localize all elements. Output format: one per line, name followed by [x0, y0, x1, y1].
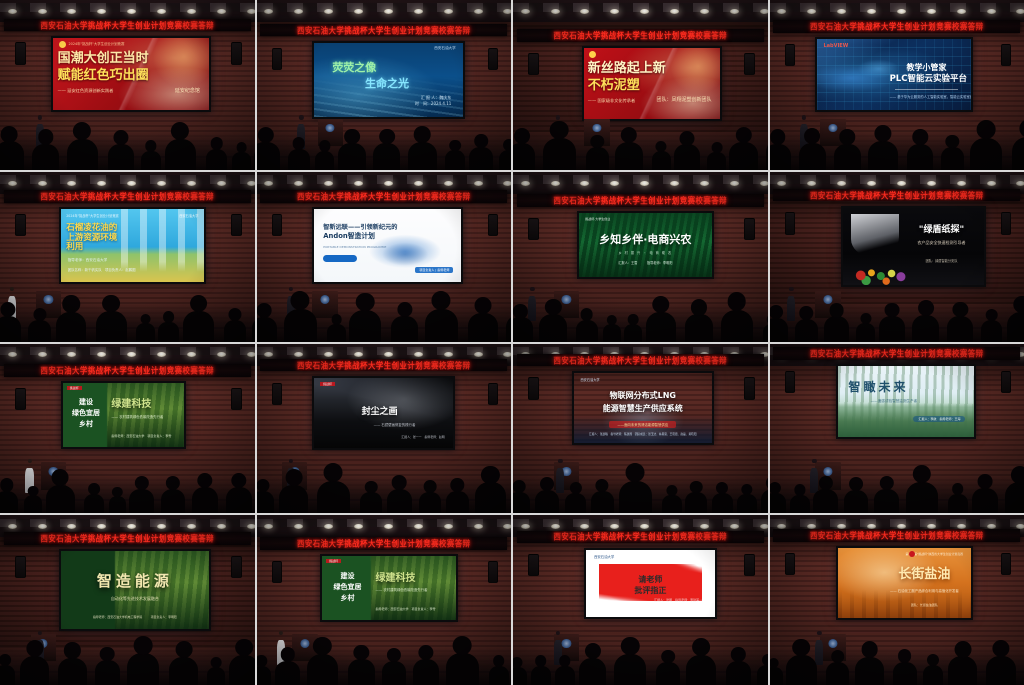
audience-silhouette	[95, 660, 120, 685]
presenter-head	[27, 459, 31, 463]
spot-light-icon	[521, 181, 530, 186]
slide-subtitle: 指导老师：西安石油大学	[68, 258, 108, 263]
audience	[0, 473, 255, 514]
spot-light-icon	[247, 352, 255, 357]
spot-light-icon	[217, 181, 226, 186]
audience-silhouette	[855, 657, 884, 685]
spot-light-icon	[987, 181, 996, 186]
spot-light-icon	[700, 9, 709, 14]
spot-light-icon	[127, 352, 136, 357]
auditorium-scene: 西安石油大学挑战杯大学生创业计划竞赛校赛答辩 封尘之画 —— 石窟壁画修复的践行…	[257, 344, 512, 514]
audience-silhouette	[489, 666, 509, 685]
slide-logo-badge	[59, 41, 66, 48]
spot-light-icon	[294, 352, 303, 357]
led-banner: 西安石油大学挑战杯大学生创业计划竞赛校赛答辩	[260, 359, 507, 372]
spot-light-icon	[294, 524, 303, 529]
audience-silhouette	[656, 662, 680, 685]
wall-speaker-left	[528, 218, 539, 240]
auditorium-scene: 西安石油大学挑战杯大学生创业计划竞赛校赛答辩 请老师 批评指正 汇报人：张明 指…	[513, 515, 768, 685]
slide-title: 建设	[67, 398, 106, 406]
wall-speaker-left	[528, 53, 539, 75]
audience-silhouette	[947, 316, 973, 342]
slide-cta-button	[323, 255, 357, 262]
slide-footer: 团队：绿盾智能分安队	[905, 258, 978, 263]
audience-silhouette	[893, 662, 917, 685]
spot-light-icon	[503, 352, 511, 357]
spot-light-icon	[640, 181, 649, 186]
spot-light-icon	[157, 9, 166, 14]
auditorium-scene: 西安石油大学挑战杯大学生创业计划竞赛校赛答辩 教学小管家 PLC智能云实验平台 …	[770, 0, 1024, 170]
audience-silhouette	[856, 323, 875, 341]
spot-light-icon	[187, 524, 196, 529]
wall-speaker-right	[488, 561, 499, 583]
spot-light-icon	[384, 9, 393, 14]
spot-light-icon	[957, 9, 966, 14]
photo-cell[interactable]: 西安石油大学挑战杯大学生创业计划竞赛校赛答辩 建设 绿色宜居 乡村 绿建科技 —…	[0, 344, 255, 514]
slide-title: 智造能源	[61, 573, 210, 590]
spot-light-icon	[38, 352, 47, 357]
audience-silhouette	[531, 666, 551, 685]
spot-lights	[513, 9, 768, 16]
spot-light-icon	[127, 181, 136, 186]
audience-silhouette	[224, 320, 247, 342]
spot-light-icon	[127, 524, 136, 529]
audience-silhouette	[1012, 137, 1024, 170]
presenter-head	[556, 115, 560, 119]
spot-light-icon	[610, 9, 619, 14]
spot-light-icon	[97, 181, 106, 186]
presentation-slide: 智瞰未来 ——遥感试验智慧监测生产者 汇报人：李航 指导老师：王海	[838, 366, 974, 437]
slide-title: 智新远联——引领新纪元的	[323, 224, 417, 231]
banner-text: 西安石油大学挑战杯大学生创业计划竞赛校赛答辩	[40, 191, 214, 203]
audience-silhouette	[513, 317, 533, 341]
audience-silhouette	[579, 658, 607, 685]
slide-photo-motif	[846, 253, 914, 286]
slide-logo-badge	[589, 51, 596, 58]
auditorium-scene: 西安石油大学挑战杯大学生创业计划竞赛校赛答辩 荧荧之像 生命之光 汇 报 人：魏…	[257, 0, 512, 170]
slide-footer: 团队：凤翔泥塑创新团队	[657, 96, 712, 103]
slide-title-2: 能源智慧生产供应系统	[574, 404, 713, 413]
projection-screen: 智瞰未来 ——遥感试验智慧监测生产者 汇报人：李航 指导老师：王海	[836, 364, 976, 439]
led-banner: 西安石油大学挑战杯大学生创业计划竞赛校赛答辩	[517, 354, 764, 367]
audience-silhouette	[790, 495, 809, 514]
slide-header-strip: 2024年"挑战杯"大学生创业计划竞赛	[69, 41, 125, 46]
wall-speaker-right	[1001, 553, 1012, 575]
wall-speaker-left	[528, 554, 539, 576]
audience-silhouette	[468, 313, 497, 342]
spot-light-icon	[700, 524, 709, 529]
photo-cell[interactable]: 西安石油大学挑战杯大学生创业计划竞赛校赛答辩 物联网分布式LNG 能源智慧生产供…	[513, 344, 768, 514]
audience-silhouette	[28, 320, 51, 342]
photo-cell[interactable]: 西安石油大学挑战杯大学生创业计划竞赛校赛答辩 智瞰未来 ——遥感试验智慧监测生产…	[770, 344, 1024, 514]
spot-light-icon	[867, 9, 876, 14]
audience-silhouette	[906, 482, 938, 513]
auditorium-scene: 西安石油大学挑战杯大学生创业计划竞赛校赛答辩 智新远联——引领新纪元的 Ando…	[257, 172, 512, 342]
spot-light-icon	[640, 524, 649, 529]
audience-silhouette	[307, 654, 339, 685]
wall-speaker-left	[785, 371, 796, 393]
spot-light-icon	[837, 9, 846, 14]
audience-silhouette	[986, 656, 1016, 685]
wall-speaker-left	[15, 556, 26, 578]
audience-silhouette	[446, 491, 469, 514]
spot-light-icon	[8, 352, 17, 357]
audience-silhouette	[46, 485, 75, 514]
audience-silhouette	[284, 309, 317, 342]
spot-light-icon	[957, 181, 966, 186]
wall-speaker-right	[231, 42, 242, 64]
projection-screen: "绿盾纸探" 农产品安全快速检测引导者 团队：绿盾智能分安队	[841, 206, 986, 287]
audience-silhouette	[84, 494, 104, 514]
audience-silhouette	[257, 142, 280, 170]
slide-subtitle: —— 延安红色资源创新实践者	[58, 88, 114, 94]
wall-speaker-left	[785, 44, 796, 66]
spot-light-icon	[414, 524, 423, 529]
audience-silhouette	[834, 144, 861, 170]
spot-light-icon	[760, 524, 768, 529]
audience-silhouette	[619, 481, 652, 513]
slide-title-2: PLC智能云实验平台	[890, 75, 964, 85]
spot-light-icon	[384, 352, 393, 357]
projection-screen: 封尘之画 —— 石窟壁画修复的践行者 汇报人：张一一 指导老师：赵明 挑战杯	[312, 376, 455, 451]
audience-silhouette	[32, 144, 59, 170]
audience-silhouette	[425, 309, 458, 341]
banner-text: 西安石油大学挑战杯大学生创业计划竞赛校赛答辩	[553, 29, 727, 41]
spot-light-icon	[264, 524, 273, 529]
slide-headline: 绿建科技	[111, 399, 179, 411]
spot-lights	[0, 181, 255, 188]
audience-silhouette	[726, 661, 751, 685]
photo-cell[interactable]: 西安石油大学挑战杯大学生创业计划竞赛校赛答辩 乡知乡伴·电商兴农 乡 村 振 兴…	[513, 172, 768, 342]
slide-headline: 绿建科技	[375, 573, 450, 585]
audience-silhouette	[232, 152, 251, 170]
spot-lights	[770, 9, 1024, 16]
slide-logo-text: 西安石油大学	[594, 554, 614, 559]
spot-light-icon	[474, 524, 483, 529]
audience-silhouette	[826, 662, 849, 685]
photo-cell[interactable]: 西安石油大学挑战杯大学生创业计划竞赛校赛答辩 封尘之画 —— 石窟壁画修复的践行…	[257, 344, 512, 514]
presenter-head	[10, 287, 14, 291]
wall-speaker-left	[272, 561, 283, 583]
audience-silhouette	[1007, 312, 1024, 342]
slide-subtitle: 汇 报 人：魏庆东	[421, 95, 452, 101]
spot-light-icon	[264, 9, 273, 14]
audience	[0, 301, 255, 342]
spot-light-icon	[354, 352, 363, 357]
projection-screen: 国潮大创正当时 赋能红色巧出圈 —— 延安红色资源创新实践者 2024年"挑战杯…	[51, 36, 211, 112]
photo-cell[interactable]: 西安石油大学挑战杯大学生创业计划竞赛校赛答辩 "绿盾纸探" 农产品安全快速检测引…	[770, 172, 1024, 342]
spot-light-icon	[551, 524, 560, 529]
presentation-slide: 请老师 批评指正 汇报人：张明 指导老师：李建军 西安石油大学	[586, 550, 714, 617]
photo-cell[interactable]: 西安石油大学挑战杯大学生创业计划竞赛校赛答辩 长街盐油 —— 石油化工副产品综合…	[770, 515, 1024, 685]
auditorium-scene: 西安石油大学挑战杯大学生创业计划竞赛校赛答辩 长街盐油 —— 石油化工副产品综合…	[770, 515, 1024, 685]
audience-silhouette	[192, 487, 219, 513]
presenter-head	[530, 287, 534, 291]
photo-cell[interactable]: 西安石油大学挑战杯大学生创业计划竞赛校赛答辩 建设 绿色宜居 乡村 绿建科技 —…	[257, 515, 512, 685]
spot-light-icon	[927, 9, 936, 14]
projection-screen: 石榴凌花油的 上游资源环境 利用 指导老师：西安石油大学 团队名称：新干帆实队 …	[59, 207, 207, 283]
wall-speaker-left	[785, 212, 796, 234]
presentation-slide: 智造能源 自动化等先进技术发展融合 指导老师：西安石油大学机电工程学院 项目负责…	[61, 551, 210, 628]
spot-lights	[513, 181, 768, 188]
audience-silhouette	[576, 320, 598, 341]
slide-subtitle: —— 基于华为云服务的人工智能实验室，智能云实验室应用	[890, 94, 964, 99]
presenter-head	[38, 631, 42, 635]
audience-silhouette	[879, 316, 905, 341]
spot-light-icon	[503, 9, 511, 14]
auditorium-scene: 西安石油大学挑战杯大学生创业计划竞赛校赛答辩 石榴凌花油的 上游资源环境 利用 …	[0, 172, 255, 342]
audience-silhouette	[646, 312, 676, 342]
spot-lights	[0, 9, 255, 16]
led-banner: 西安石油大学挑战杯大学生创业计划竞赛校赛答辩	[773, 189, 1020, 202]
audience-silhouette	[206, 149, 228, 170]
spot-lights	[0, 352, 255, 359]
photo-cell[interactable]: 西安石油大学挑战杯大学生创业计划竞赛校赛答辩 国潮大创正当时 赋能红色巧出圈 —…	[0, 0, 255, 170]
audience-silhouette	[757, 665, 767, 685]
slide-footer: 延安纪念馆	[175, 87, 200, 94]
slide-logo-text: 西安石油大学	[580, 377, 599, 382]
audience-silhouette	[586, 147, 609, 170]
slide-logo-text: 挑战杯	[67, 386, 82, 390]
presenter-head	[558, 459, 562, 463]
audience-silhouette	[721, 310, 753, 342]
audience-silhouette	[555, 666, 575, 685]
presentation-slide: 新丝路起上新 不朽泥塑 —— 国家级非文化传承者 团队：凤翔泥塑创新团队	[584, 48, 720, 119]
presentation-slide: 建设 绿色宜居 乡村 绿建科技 —— 农村建筑绿色低碳改造先行者 指导老师：西安…	[63, 383, 184, 447]
banner-text: 西安石油大学挑战杯大学生创业计划竞赛校赛答辩	[810, 347, 984, 359]
audience-silhouette	[868, 141, 898, 170]
slide-title: 长街盐油	[886, 568, 963, 583]
wall-speaker-right	[1001, 44, 1012, 66]
photo-cell[interactable]: 西安石油大学挑战杯大学生创业计划竞赛校赛答辩 请老师 批评指正 汇报人：张明 指…	[513, 515, 768, 685]
spot-light-icon	[8, 524, 17, 529]
slide-title-2: 赋能红色巧出圈	[58, 69, 149, 84]
audience-silhouette	[513, 492, 530, 513]
spot-light-icon	[67, 352, 76, 357]
audience	[513, 301, 768, 342]
audience-silhouette	[408, 142, 437, 170]
audience-silhouette	[348, 659, 374, 685]
slide-title: 荧荧之像	[332, 62, 376, 75]
audience-silhouette	[535, 490, 559, 514]
spot-light-icon	[354, 181, 363, 186]
audience-silhouette	[0, 491, 18, 514]
slide-logo-text: 挑战杯	[320, 382, 335, 386]
audience-silhouette	[387, 489, 412, 514]
presenter-head	[556, 631, 560, 635]
spot-light-icon	[730, 9, 739, 14]
spot-light-icon	[670, 181, 679, 186]
slide-footer: 时 间：2024.4.11	[415, 101, 451, 107]
spot-light-icon	[294, 181, 303, 186]
slide-footer: 汇报人：李航 指导老师：王海	[913, 416, 965, 422]
slide-footer: 汇报人：张一一 指导老师：赵明	[401, 435, 444, 439]
audience-silhouette	[786, 655, 817, 685]
spot-light-icon	[777, 181, 786, 186]
spot-light-icon	[187, 352, 196, 357]
spot-light-icon	[354, 524, 363, 529]
led-banner: 西安石油大学挑战杯大学生创业计划竞赛校赛答辩	[517, 531, 764, 544]
audience-silhouette	[24, 495, 43, 513]
slide-title: 封尘之画	[362, 407, 416, 417]
spot-light-icon	[444, 181, 453, 186]
projection-screen: 请老师 批评指正 汇报人：张明 指导老师：李建军 西安石油大学	[584, 548, 716, 619]
audience-silhouette	[603, 324, 621, 341]
auditorium-scene: 西安石油大学挑战杯大学生创业计划竞赛校赛答辩 建设 绿色宜居 乡村 绿建科技 —…	[0, 344, 255, 514]
slide-logo-text: 挑战杯	[326, 559, 341, 563]
spot-light-icon	[414, 9, 423, 14]
audience	[0, 644, 255, 685]
slide-footer: 汇报人：张晨曦 指导老师：陈建国 团队成员：张玉洁、林思思、王晓霞、赵磊、黄晓阳	[574, 432, 713, 436]
audience-silhouette	[506, 315, 511, 342]
photo-cell[interactable]: 西安石油大学挑战杯大学生创业计划竞赛校赛答辩 新丝路起上新 不朽泥塑 —— 国家…	[513, 0, 768, 170]
spot-light-icon	[897, 181, 906, 186]
spot-light-icon	[551, 9, 560, 14]
audience-silhouette	[770, 318, 789, 341]
audience-silhouette	[161, 489, 186, 513]
spot-light-icon	[354, 9, 363, 14]
audience	[257, 473, 512, 514]
auditorium-scene: 西安石油大学挑战杯大学生创业计划竞赛校赛答辩 国潮大创正当时 赋能红色巧出圈 —…	[0, 0, 255, 170]
presentation-slide: 荧荧之像 生命之光 汇 报 人：魏庆东 时 间：2024.4.11 西安石油大学	[314, 43, 463, 117]
slide-subtitle: ——面向未来的清洁能源智慧供应	[609, 421, 676, 428]
audience-silhouette	[360, 492, 382, 513]
audience-silhouette	[391, 316, 417, 342]
presenter-head	[299, 115, 303, 119]
audience	[257, 129, 512, 170]
audience-silhouette	[766, 138, 768, 170]
spot-light-icon	[610, 524, 619, 529]
spot-light-icon	[837, 181, 846, 186]
led-banner: 西安石油大学挑战杯大学生创业计划竞赛校赛答辩	[4, 364, 251, 377]
slide-title-2: Andon智造计划	[323, 233, 417, 241]
audience-silhouette	[338, 143, 365, 170]
slide-footer: 指导老师：西安石油大学 项目负责人：李雪	[375, 607, 435, 611]
audience-silhouette	[226, 487, 253, 513]
audience	[0, 129, 255, 170]
spot-light-icon	[730, 181, 739, 186]
spot-light-icon	[474, 181, 483, 186]
slide-subtitle: —— 农村建筑绿色低碳改造先行者	[111, 414, 179, 419]
audience-silhouette	[257, 491, 274, 513]
led-banner: 西安石油大学挑战杯大学生创业计划竞赛校赛答辩	[517, 194, 764, 207]
audience-silhouette	[539, 314, 567, 342]
spot-light-icon	[157, 524, 166, 529]
spot-light-icon	[640, 9, 649, 14]
wall-speaker-right	[1001, 371, 1012, 393]
spot-light-icon	[503, 524, 511, 529]
spot-light-icon	[521, 9, 530, 14]
slide-title: 新丝路起上新	[588, 62, 666, 77]
presenter-head	[789, 287, 793, 291]
audience	[513, 473, 768, 514]
presentation-slide: 物联网分布式LNG 能源智慧生产供应系统 ——面向未来的清洁能源智慧供应 汇报人…	[574, 373, 713, 444]
audience-silhouette	[109, 496, 127, 513]
banner-text: 西安石油大学挑战杯大学生创业计划竞赛校赛答辩	[297, 538, 471, 550]
slide-title: "绿盾纸探"	[905, 225, 978, 235]
presentation-slide: 国潮大创正当时 赋能红色巧出圈 —— 延安红色资源创新实践者 2024年"挑战杯…	[53, 38, 209, 110]
audience-silhouette	[108, 144, 134, 169]
spot-light-icon	[67, 181, 76, 186]
projection-screen: 新丝路起上新 不朽泥塑 —— 国家级非文化传承者 团队：凤翔泥塑创新团队	[582, 46, 722, 121]
spot-light-icon	[444, 352, 453, 357]
spot-light-icon	[247, 524, 255, 529]
audience	[513, 644, 768, 685]
photo-cell[interactable]: 西安石油大学挑战杯大学生创业计划竞赛校赛答辩 智造能源 自动化等先进技术发展融合…	[0, 515, 255, 685]
led-banner: 西安石油大学挑战杯大学生创业计划竞赛校赛答辩	[4, 190, 251, 203]
wall-speaker-right	[744, 377, 755, 399]
audience-silhouette	[970, 138, 1002, 170]
banner-text: 西安石油大学挑战杯大学生创业计划竞赛校赛答辩	[297, 24, 471, 36]
photo-cell[interactable]: 西安石油大学挑战杯大学生创业计划竞赛校赛答辩 石榴凌花油的 上游资源环境 利用 …	[0, 172, 255, 342]
slide-title: 教学小管家	[890, 63, 964, 72]
photo-cell[interactable]: 西安石油大学挑战杯大学生创业计划竞赛校赛答辩 教学小管家 PLC智能云实验平台 …	[770, 0, 1024, 170]
audience-silhouette	[737, 494, 757, 513]
spot-lights	[257, 9, 512, 16]
audience-silhouette	[165, 139, 196, 170]
spot-light-icon	[217, 352, 226, 357]
slide-subtitle: PORTABLE DEMONSTRATION PROGRAMME	[323, 245, 417, 249]
presentation-slide: 教学小管家 PLC智能云实验平台 —— 基于华为云服务的人工智能实验室，智能云实…	[817, 39, 971, 110]
presentation-slide: 封尘之画 —— 石窟壁画修复的践行者 汇报人：张一一 指导老师：赵明 挑战杯	[314, 378, 453, 449]
spot-light-icon	[294, 9, 303, 14]
audience-silhouette	[158, 322, 178, 342]
led-banner: 西安石油大学挑战杯大学生创业计划竞赛校赛答辩	[773, 20, 1020, 33]
presenter-head	[289, 287, 293, 291]
spot-light-icon	[217, 9, 226, 14]
wall-speaker-left	[15, 388, 26, 410]
wall-speaker-left	[785, 553, 796, 575]
projection-screen: 荧荧之像 生命之光 汇 报 人：魏庆东 时 间：2024.4.11 西安石油大学	[312, 41, 465, 119]
wall-speaker-right	[488, 214, 499, 236]
audience-silhouette	[795, 319, 818, 342]
audience-silhouette	[169, 657, 198, 685]
projection-screen: 乡知乡伴·电商兴农 乡 村 振 兴 ・ 电 商 助 农 汇报人：王雪 指导老师：…	[577, 211, 714, 279]
spot-light-icon	[700, 181, 709, 186]
spot-light-icon	[67, 9, 76, 14]
presenter-head	[38, 115, 42, 119]
audience-silhouette	[763, 324, 767, 342]
slide-footer: 团队：长街盐油团队	[886, 603, 963, 607]
audience-silhouette	[0, 141, 24, 169]
wall-speaker-right	[488, 383, 499, 405]
slide-logo-text: 西安石油大学	[179, 213, 198, 218]
audience-silhouette	[543, 138, 575, 170]
banner-text: 西安石油大学挑战杯大学生创业计划竞赛校赛答辩	[553, 531, 727, 543]
photo-cell[interactable]: 西安石油大学挑战杯大学生创业计划竞赛校赛答辩 荧荧之像 生命之光 汇 报 人：魏…	[257, 0, 512, 170]
audience-silhouette	[373, 143, 400, 169]
photo-cell[interactable]: 西安石油大学挑战杯大学生创业计划竞赛校赛答辩 智新远联——引领新纪元的 Ando…	[257, 172, 512, 342]
audience	[770, 473, 1024, 514]
audience-silhouette	[382, 661, 406, 685]
spot-light-icon	[157, 352, 166, 357]
projection-screen: 智新远联——引领新纪元的 Andon智造计划 PORTABLE DEMONSTR…	[312, 207, 462, 283]
slide-title-3: 乡村	[67, 420, 106, 428]
spot-light-icon	[987, 9, 996, 14]
audience-silhouette	[413, 659, 439, 685]
audience	[770, 129, 1024, 170]
banner-text: 西安石油大学挑战杯大学生创业计划竞赛校赛答辩	[553, 354, 727, 366]
audience-silhouette	[565, 493, 586, 513]
spot-light-icon	[730, 524, 739, 529]
audience	[257, 644, 512, 685]
audience-silhouette	[129, 489, 154, 513]
slide-footer: 项目负责人 | 指导老师	[415, 267, 453, 273]
audience-silhouette	[475, 482, 506, 513]
slide-footer: 汇报人：王雪 指导老师：李明阳	[579, 260, 712, 265]
audience-silhouette	[58, 658, 86, 685]
spot-light-icon	[264, 181, 273, 186]
